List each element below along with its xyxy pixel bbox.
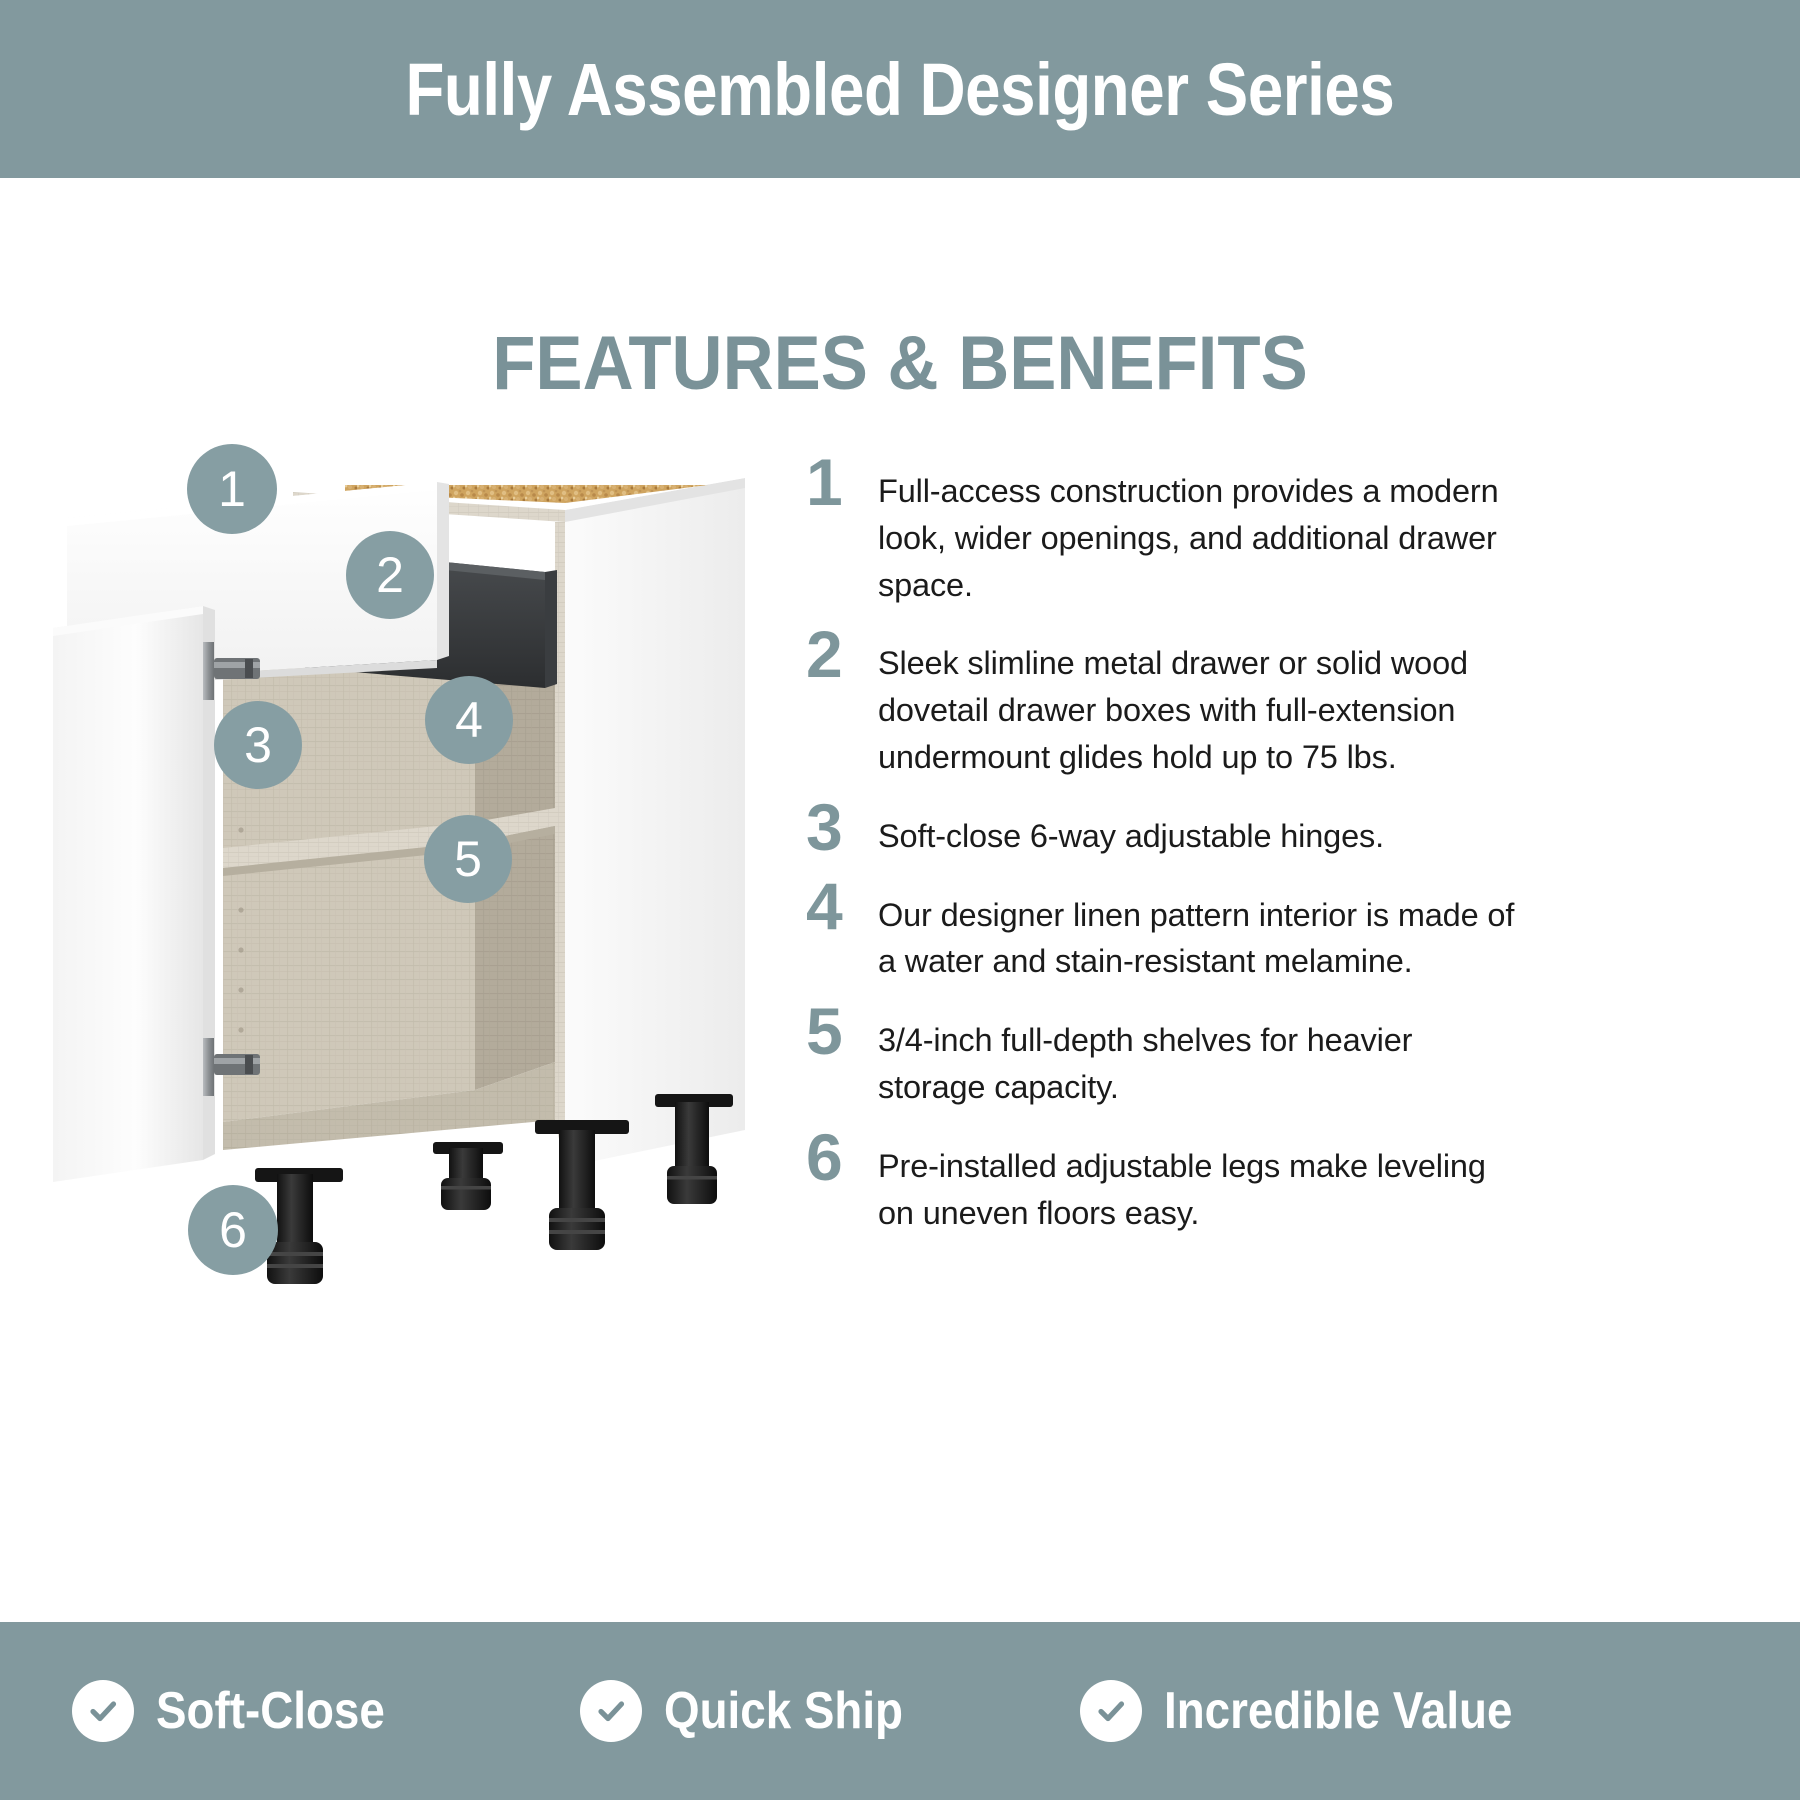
callout-bubble-6[interactable]: 6 (188, 1185, 278, 1275)
footer-badge-label-1: Soft-Close (156, 1681, 385, 1741)
feature-text-4: Our designer linen pattern interior is m… (878, 876, 1526, 986)
footer-badge-label-2: Quick Ship (664, 1681, 903, 1741)
callout-bubble-2[interactable]: 2 (346, 531, 434, 619)
feature-item-3: 3 Soft-close 6-way adjustable hinges. (806, 797, 1526, 860)
header-bar: Fully Assembled Designer Series (0, 0, 1800, 178)
callout-bubble-4[interactable]: 4 (425, 676, 513, 764)
footer-badge-label-3: Incredible Value (1164, 1681, 1512, 1741)
feature-item-5: 5 3/4-inch full-depth shelves for heavie… (806, 1001, 1526, 1111)
feature-number-1: 1 (806, 452, 878, 510)
feature-text-1: Full-access construction provides a mode… (878, 452, 1526, 608)
features-list: 1 Full-access construction provides a mo… (806, 452, 1526, 1252)
callout-bubble-3[interactable]: 3 (214, 701, 302, 789)
adjustable-leg-back-middle (433, 1142, 503, 1210)
callout-bubble-1[interactable]: 1 (187, 444, 277, 534)
feature-text-5: 3/4-inch full-depth shelves for heavier … (878, 1001, 1526, 1111)
footer-badge-quick-ship: Quick Ship (580, 1680, 936, 1742)
feature-text-3: Soft-close 6-way adjustable hinges. (878, 797, 1526, 860)
footer-badge-soft-close: Soft-Close (72, 1680, 416, 1742)
feature-number-4: 4 (806, 876, 878, 934)
callout-bubble-5[interactable]: 5 (424, 815, 512, 903)
feature-number-2: 2 (806, 624, 878, 682)
feature-number-6: 6 (806, 1127, 878, 1185)
feature-number-5: 5 (806, 1001, 878, 1059)
section-heading: FEATURES & BENEFITS (63, 320, 1737, 407)
feature-text-2: Sleek slimline metal drawer or solid woo… (878, 624, 1526, 780)
footer-badge-incredible-value: Incredible Value (1080, 1680, 1560, 1742)
feature-item-1: 1 Full-access construction provides a mo… (806, 452, 1526, 608)
cabinet-door (53, 606, 215, 1182)
check-icon (580, 1680, 642, 1742)
cabinet-right-side-panel (565, 478, 745, 1167)
page-title: Fully Assembled Designer Series (406, 47, 1395, 132)
footer-bar: Soft-Close Quick Ship Incredible Value (0, 1622, 1800, 1800)
feature-item-4: 4 Our designer linen pattern interior is… (806, 876, 1526, 986)
feature-text-6: Pre-installed adjustable legs make level… (878, 1127, 1526, 1237)
check-icon (72, 1680, 134, 1742)
feature-number-3: 3 (806, 797, 878, 855)
check-icon (1080, 1680, 1142, 1742)
feature-item-6: 6 Pre-installed adjustable legs make lev… (806, 1127, 1526, 1237)
feature-item-2: 2 Sleek slimline metal drawer or solid w… (806, 624, 1526, 780)
